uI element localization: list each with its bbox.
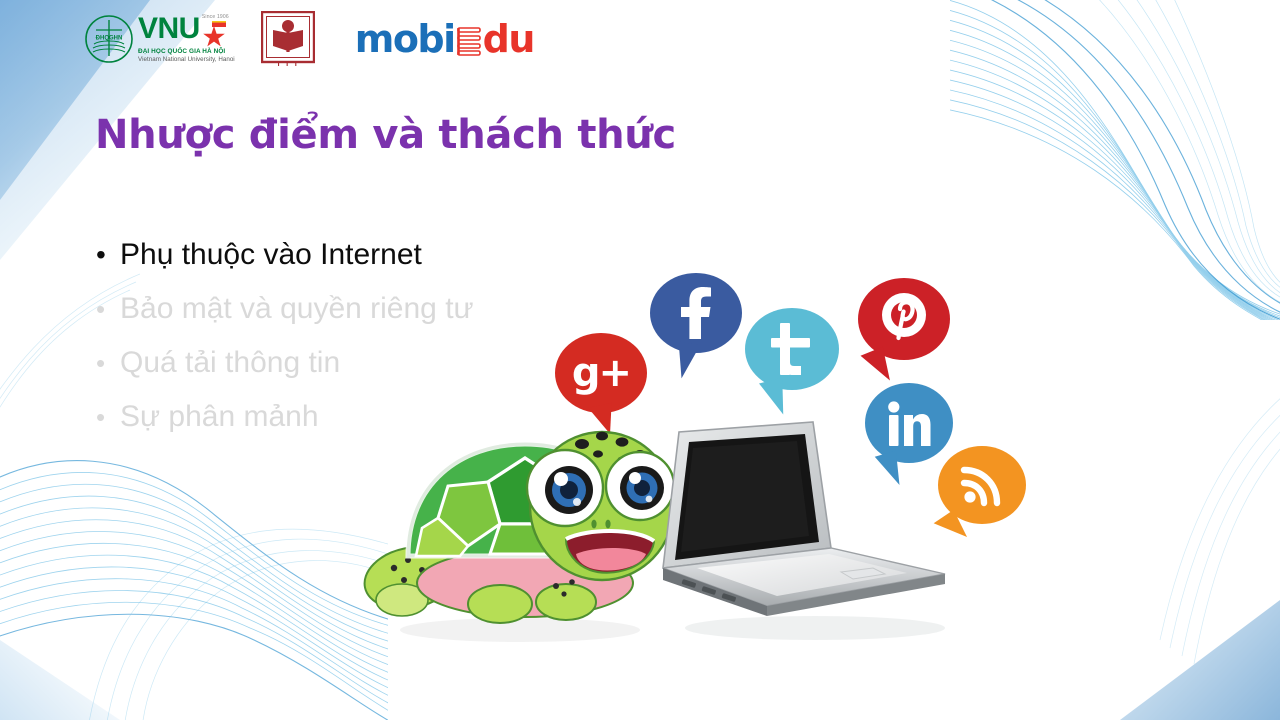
presentation-slide: ĐHQGHN VNU Since 1906 ĐẠI HỌC QUỐC GIA H… [0, 0, 1280, 720]
corner-wedge-bottom-left [0, 630, 120, 720]
iti-logo: I T I [261, 11, 315, 67]
linkedin-in-glyph [886, 400, 932, 446]
bullet-marker-icon: • [96, 336, 120, 390]
logo-bar: ĐHQGHN VNU Since 1906 ĐẠI HỌC QUỐC GIA H… [84, 8, 534, 70]
mobiedu-stylized-e-icon [456, 24, 482, 58]
illustration-turtle-laptop-social: g+ [340, 258, 1080, 678]
mobiedu-du-text: du [483, 17, 534, 61]
turtle-illustration [350, 378, 680, 653]
turtle-graphic [350, 378, 680, 648]
bullet-marker-icon: • [96, 282, 120, 336]
bullet-marker-icon: • [96, 228, 120, 282]
vnu-star-flag: Since 1906 [202, 15, 229, 47]
vnu-text-block: VNU Since 1906 ĐẠI HỌC QUỐC GIA HÀ NỘI V… [138, 15, 235, 63]
vnu-since-label: Since 1906 [202, 15, 229, 20]
twitter-icon [745, 308, 839, 390]
facebook-icon [650, 273, 742, 353]
pinterest-p-glyph [878, 291, 930, 347]
bullet-text-3: Quá tải thông tin [120, 336, 340, 390]
wave-lines-right-bottom [1120, 390, 1280, 690]
page-title: Nhược điểm và thách thức [95, 112, 676, 158]
bullet-marker-icon: • [96, 390, 120, 444]
vnu-wordmark: VNU [138, 15, 200, 44]
rss-waves-glyph [960, 463, 1004, 507]
laptop-graphic [645, 416, 965, 646]
bullet-text-4: Sự phân mảnh [120, 390, 319, 444]
laptop-illustration [645, 416, 965, 651]
mobiedu-logo: mobi du [355, 17, 534, 61]
pinterest-icon [858, 278, 950, 360]
facebook-f-glyph [676, 287, 716, 339]
vnu-subtitle-vi: ĐẠI HỌC QUỐC GIA HÀ NỘI [138, 49, 235, 55]
twitter-t-glyph [769, 323, 815, 375]
mobiedu-mobi-text: mobi [355, 17, 455, 61]
iti-label: I T I [277, 59, 298, 67]
vnu-logo: ĐHQGHN VNU Since 1906 ĐẠI HỌC QUỐC GIA H… [84, 14, 235, 64]
vnu-seal-label: ĐHQGHN [96, 36, 123, 42]
vnu-star-icon [203, 21, 227, 47]
vnu-subtitle-en: Vietnam National University, Hanoi [138, 57, 235, 63]
wave-lines-bottom-left [0, 428, 388, 720]
corner-wedge-bottom-right [1120, 600, 1280, 720]
vnu-seal-icon: ĐHQGHN [84, 14, 134, 64]
